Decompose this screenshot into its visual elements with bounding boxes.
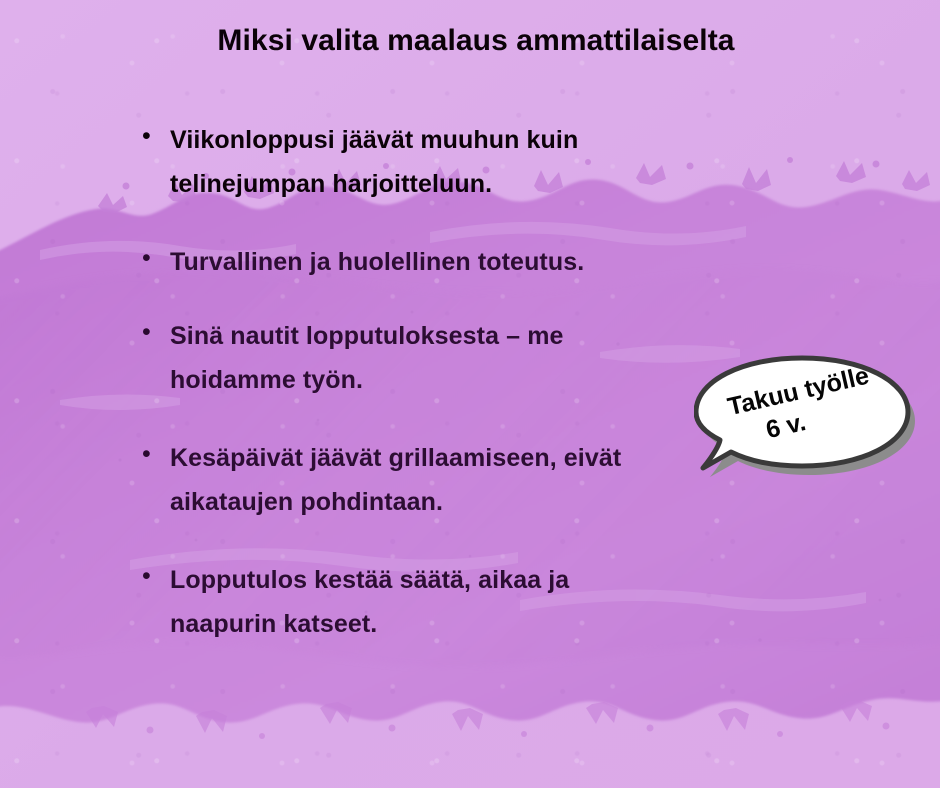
speech-bubble: Takuu työlle 6 v. <box>694 354 930 484</box>
bullet-text: Kesäpäivät jäävät grillaamiseen, eivät a… <box>170 436 778 524</box>
bullet-marker-icon: • <box>138 314 170 350</box>
list-item: • Kesäpäivät jäävät grillaamiseen, eivät… <box>138 436 778 524</box>
bullet-marker-icon: • <box>138 118 170 154</box>
page-title: Miksi valita maalaus ammattilaiselta <box>0 24 940 58</box>
bullet-list: • Viikonloppusi jäävät muuhun kuin telin… <box>138 118 778 646</box>
speech-bubble-shape <box>694 354 930 484</box>
bullet-marker-icon: • <box>138 558 170 594</box>
bullet-text: Lopputulos kestää säätä, aikaa ja naapur… <box>170 558 778 646</box>
list-item: • Turvallinen ja huolellinen toteutus. <box>138 240 778 284</box>
list-item: • Sinä nautit lopputuloksesta – me hoida… <box>138 314 778 402</box>
bullet-text: Sinä nautit lopputuloksesta – me hoidamm… <box>170 314 778 402</box>
slide-canvas: Miksi valita maalaus ammattilaiselta • V… <box>0 0 940 788</box>
bullet-marker-icon: • <box>138 436 170 472</box>
list-item: • Viikonloppusi jäävät muuhun kuin telin… <box>138 118 778 206</box>
bullet-text: Turvallinen ja huolellinen toteutus. <box>170 240 778 284</box>
list-item: • Lopputulos kestää säätä, aikaa ja naap… <box>138 558 778 646</box>
bullet-marker-icon: • <box>138 240 170 276</box>
bullet-text: Viikonloppusi jäävät muuhun kuin telinej… <box>170 118 778 206</box>
